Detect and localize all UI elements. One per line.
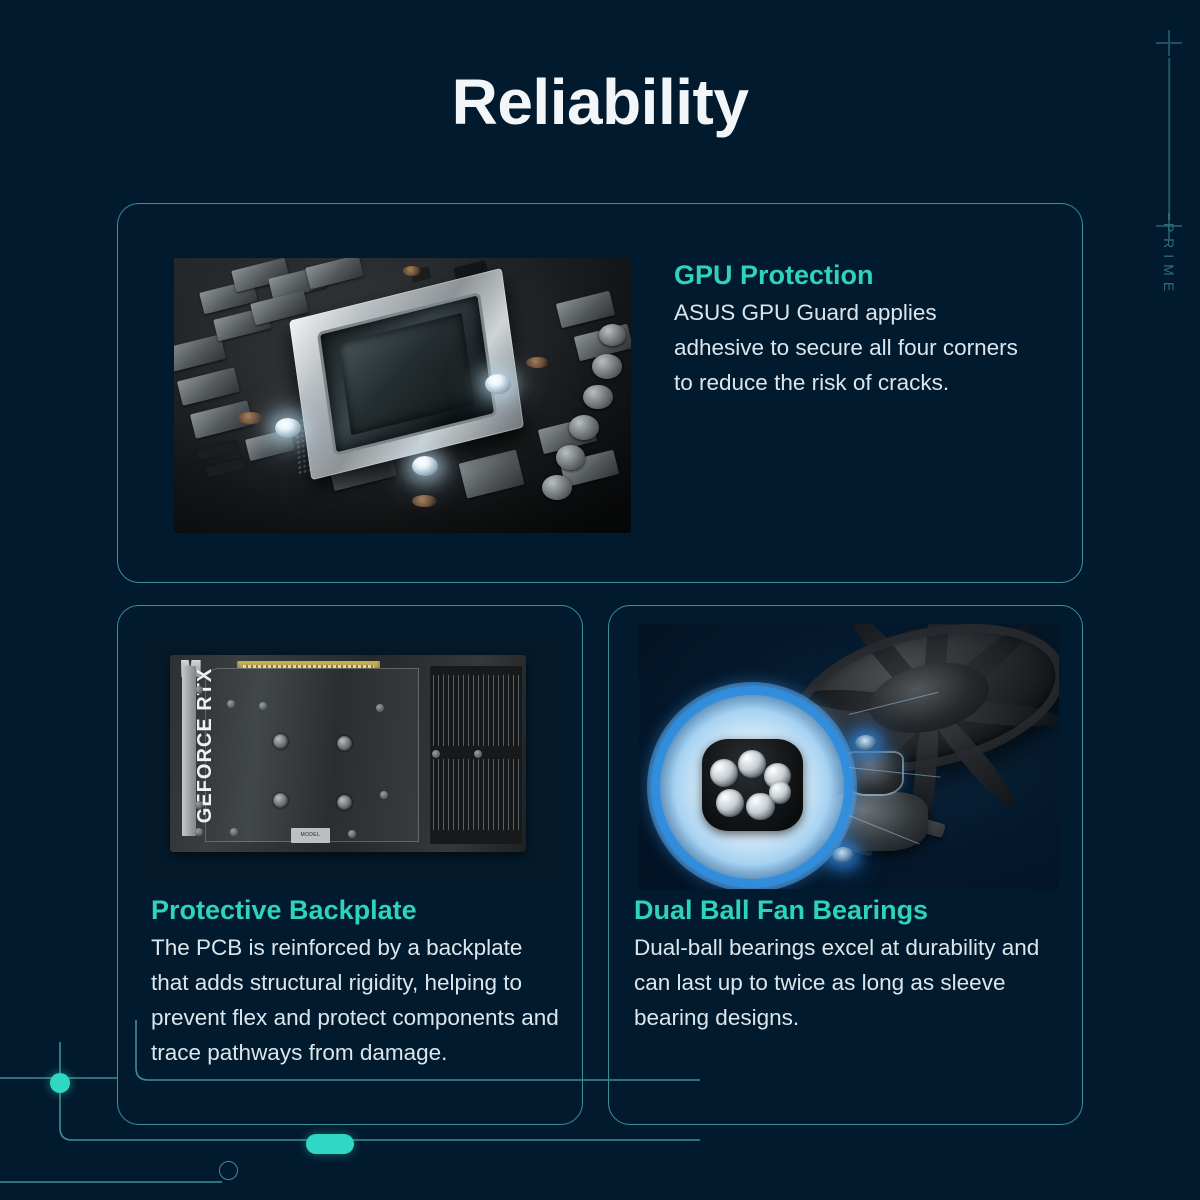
card-protective-backplate: GEFORCE RTX MODEL [117,605,583,1125]
backplate-photo: GEFORCE RTX MODEL [140,626,564,886]
backplate-brand-text: GEFORCE RTX [189,674,221,816]
card-body: Dual-ball bearings excel at durability a… [634,930,1066,1035]
card-body: The PCB is reinforced by a backplate tha… [151,930,563,1070]
card-gpu-protection: GPU Protection ASUS GPU Guard applies ad… [117,203,1083,583]
adhesive-droplet [275,418,301,438]
card-title: Dual Ball Fan Bearings [634,894,1066,928]
circuit-ring [219,1161,238,1180]
fan-bearing-photo [639,624,1059,889]
gpu-die-photo [174,258,631,533]
card-body: ASUS GPU Guard applies adhesive to secur… [674,295,1030,400]
prime-brand-mark: PRIME [1146,20,1192,340]
page-title: Reliability [0,70,1200,134]
adhesive-droplet [485,374,511,394]
card-dual-ball-fan-bearings: Dual Ball Fan Bearings Dual-ball bearing… [608,605,1083,1125]
card-protective-backplate-text: Protective Backplate The PCB is reinforc… [151,894,563,1070]
backplate-model-label: MODEL [291,828,330,844]
card-title: Protective Backplate [151,894,563,928]
card-dual-ball-fan-bearings-text: Dual Ball Fan Bearings Dual-ball bearing… [634,894,1066,1035]
screw-highlight [855,735,877,751]
slide-canvas: Reliability PRIME [0,0,1200,1200]
plus-icon [1156,30,1182,56]
vertical-rule [1168,58,1170,220]
bearing-magnifier-callout [647,682,857,889]
circuit-pill [306,1134,354,1154]
adhesive-droplet [412,456,438,476]
prime-label: PRIME [1161,223,1177,297]
circuit-node-dot [50,1073,70,1093]
card-title: GPU Protection [674,259,1030,293]
card-gpu-protection-text: GPU Protection ASUS GPU Guard applies ad… [674,259,1030,400]
